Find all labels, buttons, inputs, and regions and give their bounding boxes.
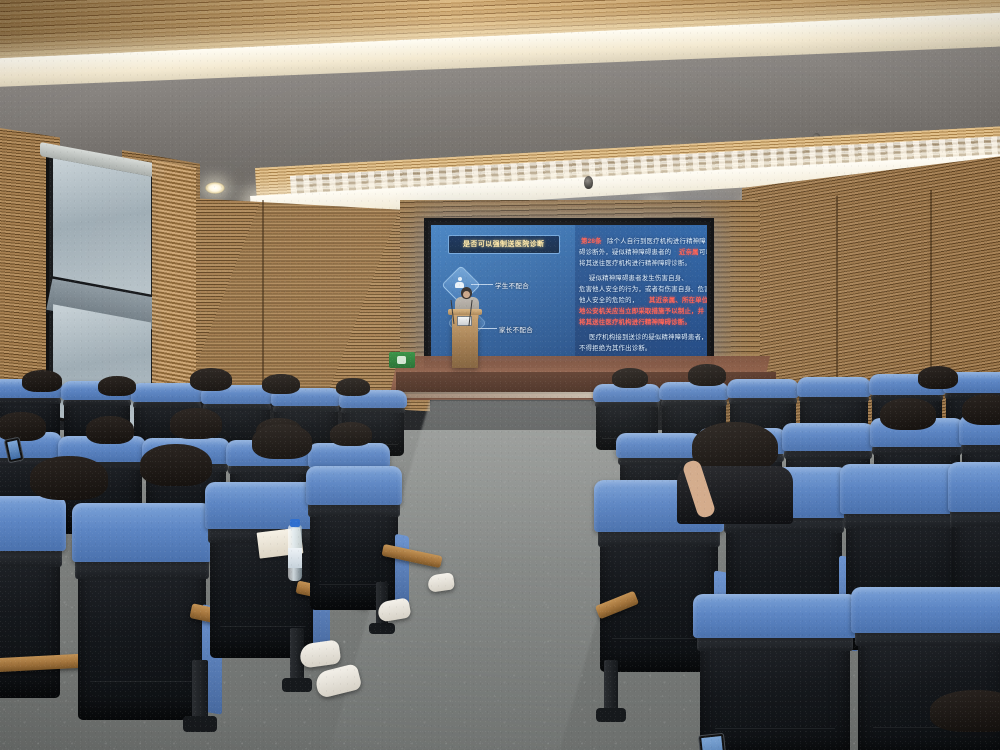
slide-left-item-0-label: 学生不配合 xyxy=(495,280,529,290)
slide-connector-line xyxy=(475,328,497,329)
seat-leg xyxy=(604,660,618,722)
projector-mount-icon xyxy=(584,176,593,189)
sneaker xyxy=(314,663,363,699)
slide-line-12: 医疗机构接到送诊的疑似精神障碍患者， xyxy=(589,332,707,341)
bottle-cap xyxy=(290,519,300,527)
seat[interactable] xyxy=(78,548,206,720)
slide-left-item-1-label: 家长不配合 xyxy=(499,324,533,334)
person-icon xyxy=(455,277,464,288)
seat[interactable] xyxy=(700,628,850,750)
audience-person xyxy=(30,456,108,530)
slide-title-bar: 是否可以强制送医院诊断 xyxy=(448,235,560,255)
phone-icon[interactable] xyxy=(698,733,728,750)
slide-line-6: 疑似精神障碍患者发生伤害自身、 xyxy=(589,273,688,282)
audience-person xyxy=(252,424,312,482)
ceiling-downlight xyxy=(205,182,225,194)
presenter-face xyxy=(463,291,470,298)
seat[interactable] xyxy=(0,538,60,698)
window-glass-upper xyxy=(53,158,151,296)
audience-person xyxy=(330,422,372,462)
slide-line-0: 第28条 xyxy=(581,236,602,245)
slide-line-9: 其近亲属、所在单位、当 xyxy=(649,295,707,304)
seat-leg xyxy=(192,660,208,732)
audience-person xyxy=(98,376,136,410)
audience-person xyxy=(880,398,936,452)
slide-line-4: 可以 xyxy=(699,247,707,256)
sneaker xyxy=(427,572,455,592)
slide-title: 是否可以强制送医院诊断 xyxy=(463,239,544,249)
bottle-label xyxy=(288,548,302,568)
slide-line-8: 他人安全的危险的， xyxy=(579,295,638,304)
audience-person xyxy=(930,690,1000,750)
slide-line-7: 危害他人安全的行为，或者有伤害自身、危害 xyxy=(579,284,707,293)
seating-area xyxy=(0,360,1000,750)
audience-person xyxy=(688,364,726,400)
audience-person xyxy=(962,394,1000,446)
slide-line-11: 将其送往医疗机构进行精神障碍诊断。 xyxy=(579,317,691,326)
slide-line-5: 将其送往医疗机构进行精神障碍诊断。 xyxy=(579,258,691,267)
slide-line-1: 除个人自行到医疗机构进行精神障 xyxy=(607,236,706,245)
audience-person xyxy=(140,444,212,514)
slide-line-13: 不得拒绝为其作出诊断。 xyxy=(579,343,652,352)
audience-person xyxy=(22,370,62,406)
slide-line-2: 碍诊断外，疑似精神障碍患者的 xyxy=(579,247,671,256)
slide-line-3: 近亲属 xyxy=(679,247,699,256)
slide-line-10: 地公安机关应当立即采取措施予以制止，并 xyxy=(579,306,704,315)
audience-person xyxy=(612,368,648,402)
slide-connector-line xyxy=(471,284,493,285)
auditorium-photo: 是否可以强制送医院诊断 学生不配合 家长不配合 第28条 除个人自行到医疗机构进… xyxy=(0,0,1000,750)
audience-person xyxy=(190,368,232,406)
audience-person xyxy=(336,378,370,408)
audience-person xyxy=(262,374,300,408)
